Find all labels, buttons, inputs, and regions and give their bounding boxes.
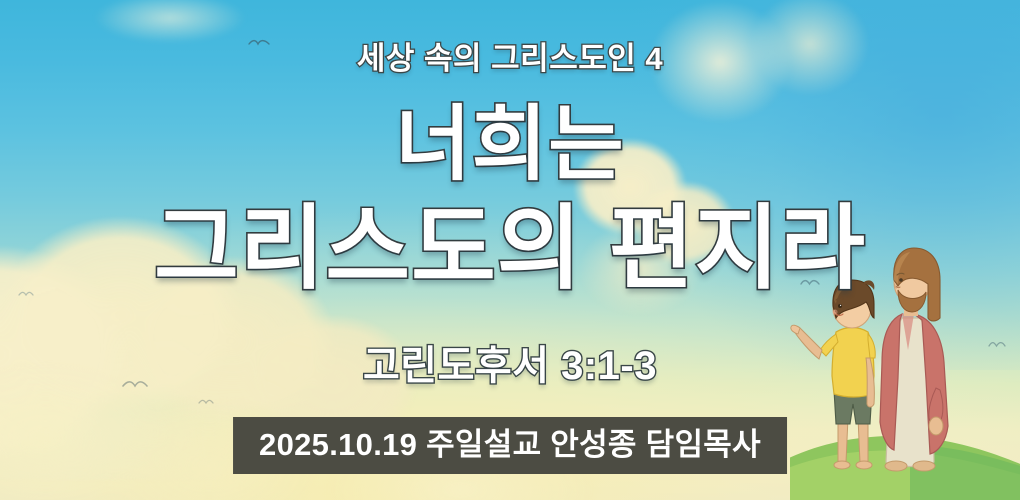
scripture-reference: 고린도후서 3:1-3 [0, 333, 1020, 391]
headline-line-2: 그리스도의 편지라 [0, 203, 1020, 295]
series-label: 세상 속의 그리스도인 4 [0, 33, 1020, 78]
sermon-info-badge: 2025.10.19 주일설교 안성종 담임목사 [233, 417, 787, 474]
sermon-banner: 세상 속의 그리스도인 4 너희는 그리스도의 편지라 고린도후서 3:1-3 … [0, 0, 1020, 500]
headline-line-1: 너희는 [0, 104, 1020, 186]
